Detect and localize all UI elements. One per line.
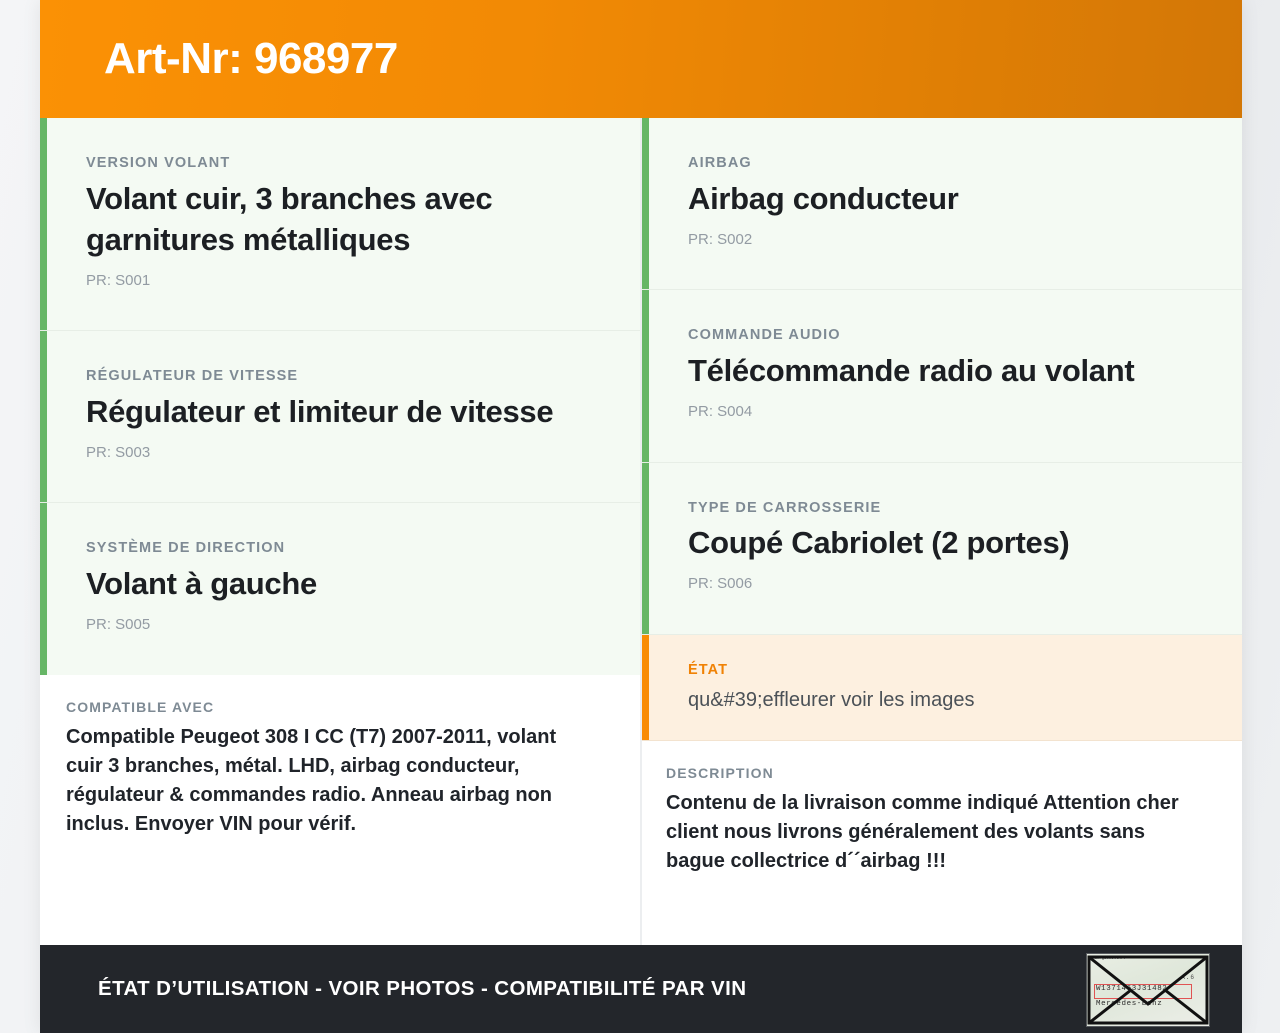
- state-label: ÉTAT: [688, 661, 1198, 680]
- right-column: AIRBAG Airbag conducteur PR: S002 COMMAN…: [642, 118, 1242, 945]
- compatibility-label: COMPATIBLE AVEC: [66, 699, 596, 715]
- spec-card-commande-audio: COMMANDE AUDIO Télécommande radio au vol…: [642, 290, 1242, 462]
- spec-value: Airbag conducteur: [688, 179, 1198, 220]
- spec-value: Régulateur et limiteur de vitesse: [86, 392, 596, 433]
- spec-pr-code: PR: S004: [688, 402, 1198, 422]
- description-label: DESCRIPTION: [666, 765, 1202, 781]
- spec-label: TYPE DE CARROSSERIE: [688, 499, 1198, 518]
- state-card: ÉTAT qu&#39;effleurer voir les images: [642, 635, 1242, 741]
- left-column: VERSION VOLANT Volant cuir, 3 branches a…: [40, 118, 642, 945]
- description-text: Contenu de la livraison comme indiqué At…: [666, 789, 1202, 877]
- spec-label: SYSTÈME DE DIRECTION: [86, 539, 596, 558]
- description-block: DESCRIPTION Contenu de la livraison comm…: [642, 741, 1242, 945]
- page-title: Art-Nr: 968977: [104, 37, 398, 81]
- spec-pr-code: PR: S001: [86, 271, 596, 291]
- spec-value: Coupé Cabriolet (2 portes): [688, 523, 1198, 564]
- compatibility-text: Compatible Peugeot 308 I CC (T7) 2007-20…: [66, 723, 596, 840]
- spec-card-type-de-carrosserie: TYPE DE CARROSSERIE Coupé Cabriolet (2 p…: [642, 463, 1242, 635]
- spec-card-regulateur-de-vitesse: RÉGULATEUR DE VITESSE Régulateur et limi…: [40, 331, 640, 503]
- product-listing: Art-Nr: 968977 VERSION VOLANT Volant cui…: [40, 0, 1242, 1033]
- spec-value: Volant à gauche: [86, 564, 596, 605]
- spec-label: RÉGULATEUR DE VITESSE: [86, 367, 596, 386]
- spec-label: VERSION VOLANT: [86, 154, 596, 173]
- spec-label: COMMANDE AUDIO: [688, 326, 1198, 345]
- listing-footer: ÉTAT D’UTILISATION - VOIR PHOTOS - COMPA…: [40, 945, 1242, 1033]
- spec-pr-code: PR: S005: [86, 615, 596, 635]
- spec-card-version-volant: VERSION VOLANT Volant cuir, 3 branches a…: [40, 118, 640, 331]
- specs-columns: VERSION VOLANT Volant cuir, 3 branches a…: [40, 118, 1242, 945]
- spec-value: Volant cuir, 3 branches avec garnitures …: [86, 179, 596, 261]
- listing-header: Art-Nr: 968977: [40, 0, 1242, 118]
- compatibility-block: COMPATIBLE AVEC Compatible Peugeot 308 I…: [40, 675, 640, 945]
- spec-pr-code: PR: S002: [688, 230, 1198, 250]
- footer-notice: ÉTAT D’UTILISATION - VOIR PHOTOS - COMPA…: [98, 977, 746, 1001]
- spec-card-airbag: AIRBAG Airbag conducteur PR: S002: [642, 118, 1242, 290]
- spec-value: Télécommande radio au volant: [688, 351, 1198, 392]
- spec-card-systeme-de-direction: SYSTÈME DE DIRECTION Volant à gauche PR:…: [40, 503, 640, 674]
- broken-image-envelope-icon: [1087, 954, 1209, 1026]
- state-value: qu&#39;effleurer voir les images: [688, 686, 1198, 714]
- vin-document-thumbnail[interactable]: Fahrgestellnr. A.6 W1371463J31482 Merced…: [1086, 953, 1210, 1027]
- spec-label: AIRBAG: [688, 154, 1198, 173]
- spec-pr-code: PR: S003: [86, 443, 596, 463]
- spec-pr-code: PR: S006: [688, 574, 1198, 594]
